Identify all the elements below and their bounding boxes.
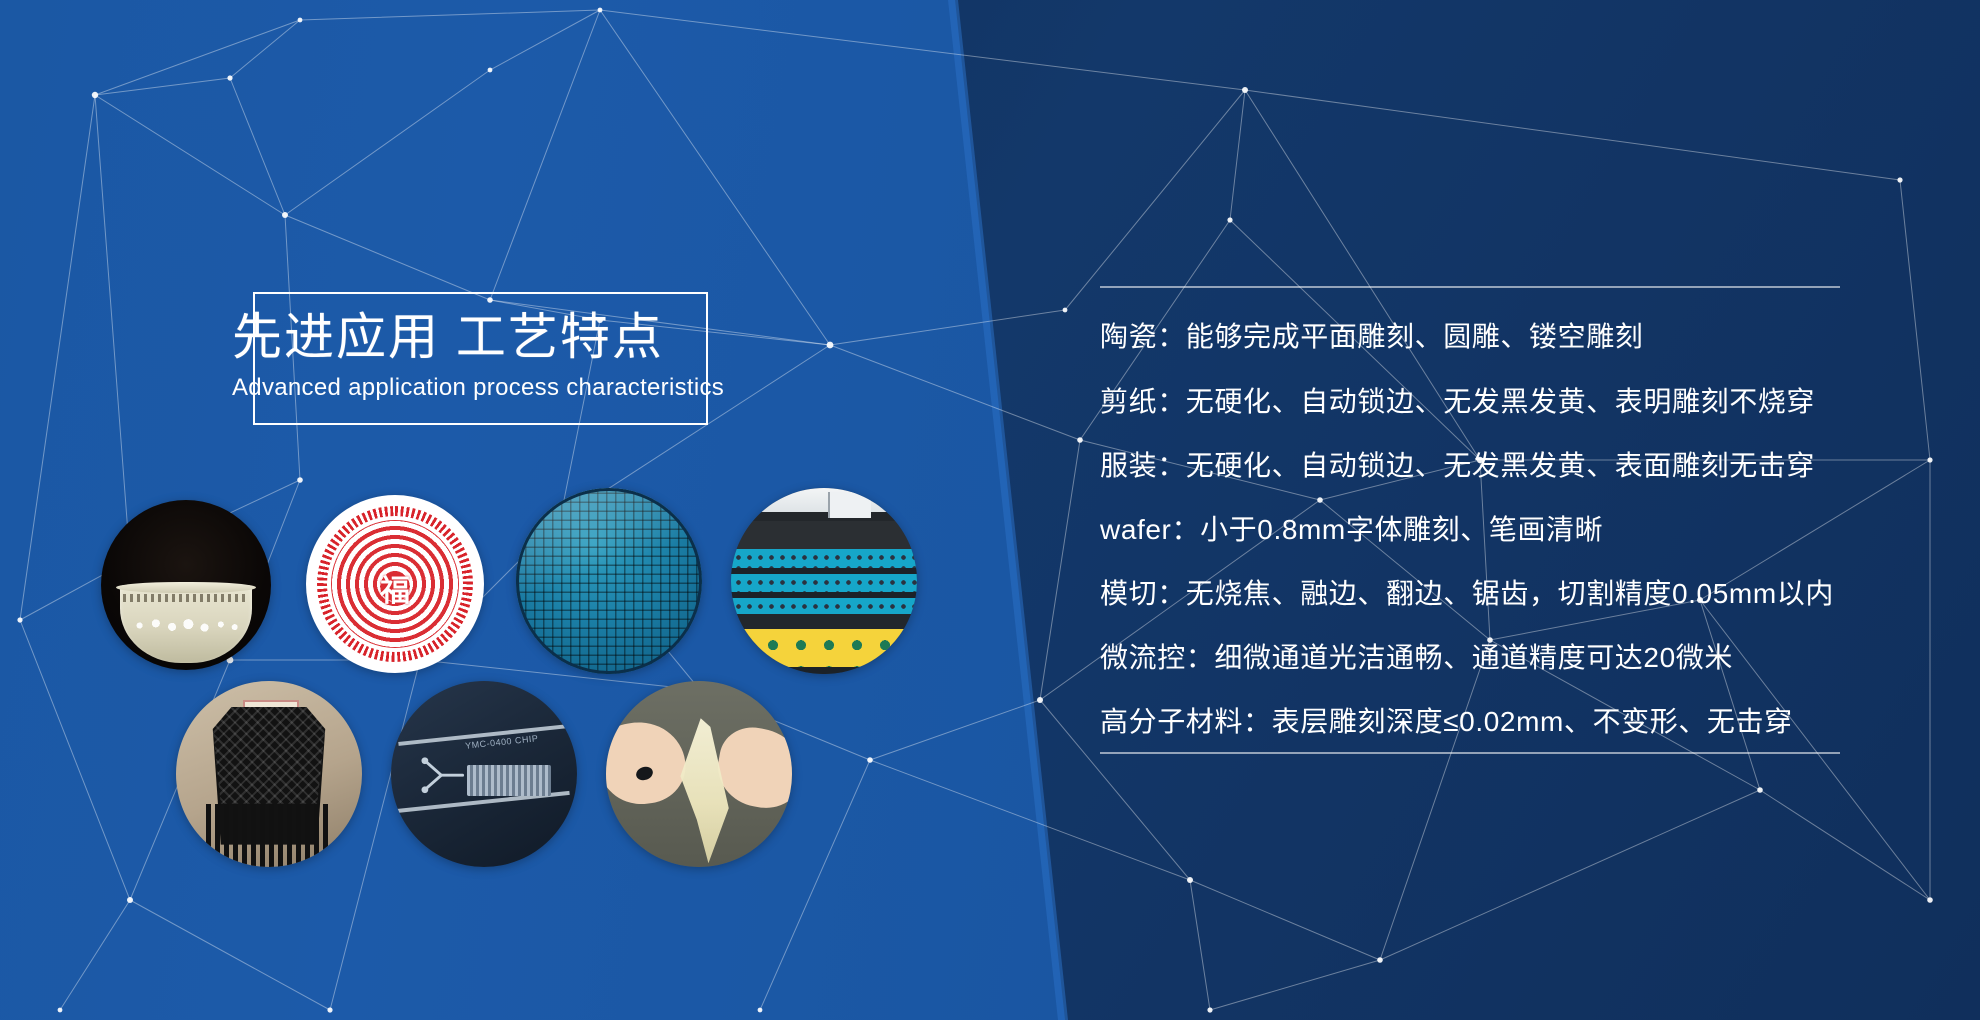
page-title: 先进应用 工艺特点: [232, 312, 664, 362]
banner-stage: 先进应用 工艺特点 Advanced application process c…: [0, 0, 1980, 1020]
polymer-film-image: [606, 681, 792, 867]
feature-line-1: 陶瓷：能够完成平面雕刻、圆雕、镂空雕刻: [1100, 323, 1643, 351]
gallery-item-garment-fringe[interactable]: [176, 681, 362, 867]
microfluidic-chip-image: YMC-0400 CHIP: [391, 681, 577, 867]
feature-line-2: 剪纸：无硬化、自动锁边、无发黑发黄、表明雕刻不烧穿: [1100, 388, 1815, 416]
gallery-item-die-cut-strip[interactable]: [731, 488, 917, 674]
feature-line-7: 高分子材料：表层雕刻深度≤0.02mm、不变形、无击穿: [1100, 708, 1793, 736]
bottom-divider: [1100, 752, 1840, 754]
feature-line-4: wafer：小于0.8mm字体雕刻、笔画清晰: [1100, 516, 1603, 544]
gallery-item-microfluidic-chip[interactable]: YMC-0400 CHIP: [391, 681, 577, 867]
feature-line-5: 模切：无烧焦、融边、翻边、锯齿，切割精度0.05mm以内: [1100, 580, 1834, 608]
gallery-item-ceramic-bowl[interactable]: [101, 500, 271, 670]
y-channel-icon: [421, 752, 469, 800]
gallery-item-silicon-wafer[interactable]: [516, 488, 702, 674]
ceramic-bowl-image: [101, 500, 271, 670]
feature-line-3: 服装：无硬化、自动锁边、无发黑发黄、表面雕刻无击穿: [1100, 452, 1815, 480]
paper-cut-image: 福: [306, 495, 484, 673]
garment-fringe-image: [176, 681, 362, 867]
silicon-wafer-image: [516, 488, 702, 674]
gallery-item-polymer-film[interactable]: [606, 681, 792, 867]
die-cut-strip-image: [731, 488, 917, 674]
feature-line-6: 微流控：细微通道光洁通畅、通道精度可达20微米: [1100, 644, 1733, 672]
page-subtitle: Advanced application process characteris…: [232, 376, 724, 400]
top-divider: [1100, 286, 1840, 288]
gallery-item-paper-cut[interactable]: 福: [306, 495, 484, 673]
